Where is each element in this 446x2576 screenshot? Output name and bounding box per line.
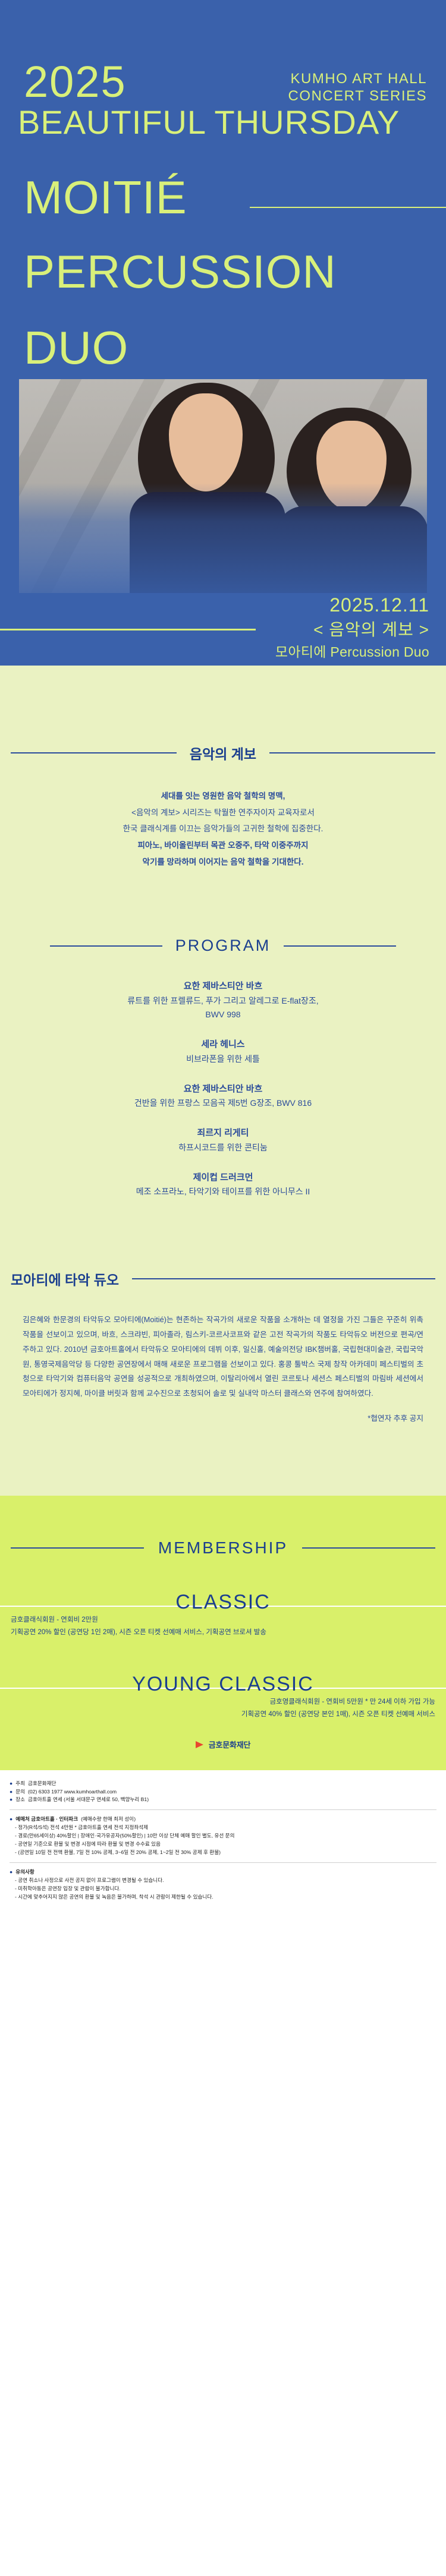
tier-detail-line: 기획공연 20% 할인 (공연당 1인 2매), 시즌 오픈 티켓 선예매 서비… bbox=[11, 1626, 435, 1639]
rule-right bbox=[284, 945, 396, 947]
hero-subtitle: BEAUTIFUL THURSDAY bbox=[18, 103, 400, 141]
intro-line: <음악의 계보> 시리즈는 탁월한 연주자이자 교육자로서 bbox=[0, 805, 446, 821]
artist-photo bbox=[19, 379, 427, 593]
footer-info-label: 장소 bbox=[15, 1796, 25, 1804]
artist-bio: 김은혜와 한문경의 타악듀오 모아티에(Moitié)는 현존하는 작곡가의 새… bbox=[23, 1313, 423, 1401]
bullet-icon: ● bbox=[10, 1796, 12, 1804]
section-title: 모아티에 타악 듀오 bbox=[11, 1269, 119, 1289]
section-title: MEMBERSHIP bbox=[158, 1538, 288, 1557]
footer-divider-2 bbox=[10, 1862, 436, 1863]
membership-section: MEMBERSHIP CLASSIC금호클래식회원 - 연회비 2만원기획공연 … bbox=[0, 1496, 446, 1770]
program-item: 요한 제바스티안 바흐건반을 위한 프랑스 모음곡 제5번 G장조, BWV 8… bbox=[0, 1082, 446, 1111]
bullet-icon: ● bbox=[10, 1815, 12, 1824]
program-composer: 세라 헤니스 bbox=[0, 1037, 446, 1052]
section-header-membership: MEMBERSHIP bbox=[0, 1496, 446, 1557]
intro-line: 악기를 망라하며 이어지는 음악 철학을 기대한다. bbox=[0, 854, 446, 871]
program-work: 하프시코드를 위한 콘티눔 bbox=[0, 1141, 446, 1155]
notice-heading-row: ● 유의사항 bbox=[10, 1868, 436, 1877]
tier-detail-line: 기획공연 40% 할인 (공연당 본인 1매), 시즌 오픈 티켓 선예매 서비… bbox=[11, 1708, 435, 1721]
footer-info-row: ●문의(02) 6303 1977 www.kumhoarthall.com bbox=[10, 1788, 436, 1796]
program-list: 요한 제바스티안 바흐류트를 위한 프렐류드, 푸가 그리고 알레그로 E-fl… bbox=[0, 979, 446, 1199]
footer-info-value: 금호아트홀 연세 (서울 서대문구 연세로 50, 백양누리 B1) bbox=[28, 1796, 149, 1804]
footer-info-value: 금호문화재단 bbox=[28, 1780, 56, 1788]
program-composer: 요한 제바스티안 바흐 bbox=[0, 979, 446, 994]
membership-tier: CLASSIC금호클래식회원 - 연회비 2만원기획공연 20% 할인 (공연당… bbox=[0, 1591, 446, 1639]
intro-line: 피아노, 바이올린부터 목관 오중주, 타악 이중주까지 bbox=[0, 837, 446, 854]
concert-date: 2025.12.11 bbox=[329, 594, 429, 616]
hero-series-label: KUMHO ART HALL CONCERT SERIES bbox=[288, 70, 428, 105]
rule-right bbox=[269, 752, 435, 753]
hero-banner: 2025 KUMHO ART HALL CONCERT SERIES BEAUT… bbox=[0, 0, 446, 666]
program-work: 건반을 위한 프랑스 모음곡 제5번 G장조, BWV 816 bbox=[0, 1096, 446, 1110]
section-header-program: PROGRAM bbox=[0, 937, 446, 955]
hero-rule-bottom bbox=[0, 629, 256, 630]
logo-text: 금호문화재단 bbox=[209, 1739, 251, 1750]
intro-paragraph: 세대를 잇는 영원한 음악 철학의 명맥,<음악의 계보> 시리즈는 탁월한 연… bbox=[0, 788, 446, 870]
kumho-triangle-icon bbox=[196, 1740, 205, 1749]
tier-name: CLASSIC bbox=[0, 1591, 446, 1614]
footer-info-row: ●장소금호아트홀 연세 (서울 서대문구 연세로 50, 백양누리 B1) bbox=[10, 1796, 436, 1804]
tier-detail-line: 금호영클래식회원 - 연회비 5만원 * 만 24세 이하 가입 가능 bbox=[11, 1696, 435, 1708]
program-work: 류트를 위한 프렐류드, 푸가 그리고 알레그로 E-flat장조, bbox=[0, 994, 446, 1008]
intro-line: 세대를 잇는 영원한 음악 철학의 명맥, bbox=[0, 788, 446, 805]
intro-line: 한국 클래식계를 이끄는 음악가들의 고귀한 철학에 집중한다. bbox=[0, 821, 446, 837]
program-composer: 죄르지 리게티 bbox=[0, 1125, 446, 1141]
section-title: 음악의 계보 bbox=[190, 743, 256, 763]
membership-tiers: CLASSIC금호클래식회원 - 연회비 2만원기획공연 20% 할인 (공연당… bbox=[0, 1591, 446, 1721]
hero-rule-top bbox=[250, 207, 446, 208]
program-work: 비브라폰을 위한 세틀 bbox=[0, 1052, 446, 1066]
ticket-row: - (공연일 10일 전 전액 환불, 7일 전 10% 공제, 3~6일 전 … bbox=[15, 1849, 436, 1857]
ticket-heading-note: (예매수량 한매 최저 성이) bbox=[81, 1815, 136, 1824]
membership-tier: YOUNG CLASSIC금호영클래식회원 - 연회비 5만원 * 만 24세 … bbox=[0, 1673, 446, 1721]
ticket-row: - 공연일 기준으로 환불 및 변경 시점에 따라 환불 및 변경 수수료 있음 bbox=[15, 1840, 436, 1849]
tier-detail-line: 금호클래식회원 - 연회비 2만원 bbox=[11, 1614, 435, 1626]
artist-bio-note: *협연자 추후 공지 bbox=[0, 1412, 423, 1423]
footer: ●주최금호문화재단●문의(02) 6303 1977 www.kumhoarth… bbox=[0, 1770, 446, 1920]
ticket-heading-row: ● 예매처 금호아트홀 · 인터파크 (예매수량 한매 최저 성이) bbox=[10, 1815, 436, 1824]
notice-row: - 미취학아동은 공연장 입장 및 관람이 불가합니다. bbox=[15, 1885, 436, 1893]
footer-info-value: (02) 6303 1977 www.kumhoarthall.com bbox=[28, 1788, 117, 1796]
bullet-icon: ● bbox=[10, 1788, 12, 1796]
hero-title-line-2: PERCUSSION bbox=[24, 250, 337, 294]
notice-row: - 공연 취소나 사정으로 사전 공지 없이 프로그램이 변경될 수 있습니다. bbox=[15, 1877, 436, 1885]
concert-poster: 2025 KUMHO ART HALL CONCERT SERIES BEAUT… bbox=[0, 0, 446, 1920]
footer-info-label: 문의 bbox=[15, 1788, 25, 1796]
footer-info-label: 주최 bbox=[15, 1780, 25, 1788]
rule-right bbox=[302, 1547, 435, 1549]
program-composer: 제이컵 드러크먼 bbox=[0, 1170, 446, 1185]
concert-work-title: < 음악의 계보 > bbox=[313, 617, 429, 641]
footer-info-block: ●주최금호문화재단●문의(02) 6303 1977 www.kumhoarth… bbox=[10, 1780, 436, 1805]
concert-performer: 모아티에 Percussion Duo bbox=[275, 641, 429, 661]
footer-divider bbox=[10, 1809, 436, 1810]
ticket-row: - 경로(만65세이상) 40%할인 | 장애인·국가유공자(50%할인) | … bbox=[15, 1832, 436, 1840]
program-item: 죄르지 리게티하프시코드를 위한 콘티눔 bbox=[0, 1125, 446, 1155]
photo-gradient-overlay bbox=[19, 483, 427, 593]
program-item: 세라 헤니스비브라폰을 위한 세틀 bbox=[0, 1037, 446, 1066]
tier-details: 금호영클래식회원 - 연회비 5만원 * 만 24세 이하 가입 가능기획공연 … bbox=[11, 1696, 435, 1721]
logo-lockup: 금호문화재단 bbox=[196, 1739, 251, 1750]
program-work: BWV 998 bbox=[0, 1008, 446, 1021]
section-header-artist: 모아티에 타악 듀오 bbox=[0, 1269, 446, 1289]
tier-details: 금호클래식회원 - 연회비 2만원기획공연 20% 할인 (공연당 1인 2매)… bbox=[11, 1614, 435, 1639]
footer-notice-block: ● 유의사항 - 공연 취소나 사정으로 사전 공지 없이 프로그램이 변경될 … bbox=[10, 1868, 436, 1902]
ticket-heading: 예매처 금호아트홀 · 인터파크 bbox=[15, 1815, 78, 1824]
rule-left bbox=[11, 752, 177, 753]
foundation-logo: 금호문화재단 bbox=[0, 1721, 446, 1760]
series-line-1: KUMHO ART HALL bbox=[288, 70, 428, 87]
rule-right bbox=[132, 1278, 435, 1279]
content-body: 음악의 계보 세대를 잇는 영원한 음악 철학의 명맥,<음악의 계보> 시리즈… bbox=[0, 666, 446, 1496]
section-title: PROGRAM bbox=[175, 937, 271, 955]
program-composer: 요한 제바스티안 바흐 bbox=[0, 1082, 446, 1097]
hero-title-line-3: DUO bbox=[24, 326, 128, 370]
bullet-icon: ● bbox=[10, 1780, 12, 1788]
footer-ticket-block: ● 예매처 금호아트홀 · 인터파크 (예매수량 한매 최저 성이) - 정가(… bbox=[10, 1815, 436, 1857]
hero-title-line-1: MOITIÉ bbox=[24, 175, 187, 219]
tier-name: YOUNG CLASSIC bbox=[0, 1673, 446, 1696]
bullet-icon: ● bbox=[10, 1868, 12, 1877]
rule-left bbox=[11, 1547, 144, 1549]
notice-heading: 유의사항 bbox=[15, 1868, 34, 1877]
notice-row: - 시간에 맞추어지지 않은 공연의 환불 및 녹음은 불가하며, 착석 시 관… bbox=[15, 1893, 436, 1902]
rule-left bbox=[50, 945, 162, 947]
program-item: 요한 제바스티안 바흐류트를 위한 프렐류드, 푸가 그리고 알레그로 E-fl… bbox=[0, 979, 446, 1021]
program-item: 제이컵 드러크먼메조 소프라노, 타악기와 테이프를 위한 아니무스 II bbox=[0, 1170, 446, 1199]
ticket-row: - 정가(R석/S석) 전석 4만원 * 금호아트홀 연세 전석 지정좌석제 bbox=[15, 1824, 436, 1832]
footer-info-row: ●주최금호문화재단 bbox=[10, 1780, 436, 1788]
section-header-intro: 음악의 계보 bbox=[0, 743, 446, 763]
program-work: 메조 소프라노, 타악기와 테이프를 위한 아니무스 II bbox=[0, 1185, 446, 1199]
ticket-rows: - 정가(R석/S석) 전석 4만원 * 금호아트홀 연세 전석 지정좌석제- … bbox=[10, 1824, 436, 1857]
hero-year: 2025 bbox=[24, 62, 127, 102]
notice-rows: - 공연 취소나 사정으로 사전 공지 없이 프로그램이 변경될 수 있습니다.… bbox=[10, 1877, 436, 1902]
